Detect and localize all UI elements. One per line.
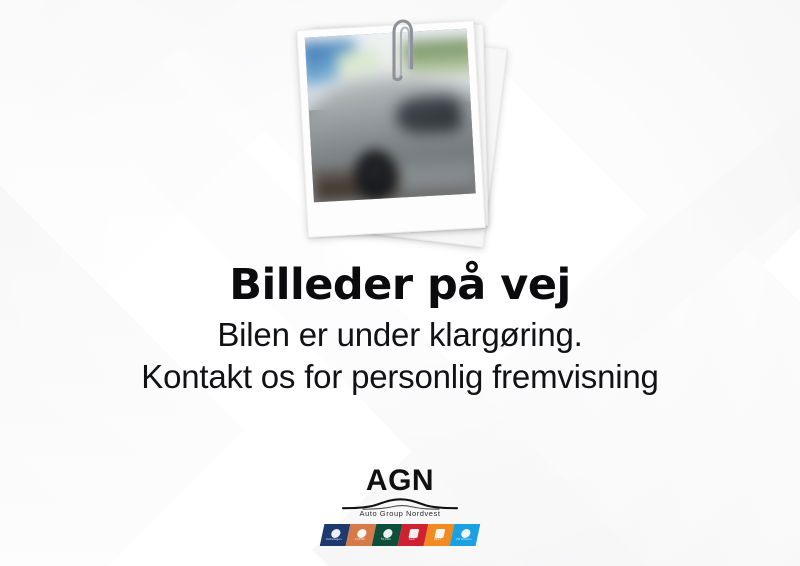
- subtitle-line-two: Kontakt os for personlig fremvisning: [0, 356, 800, 398]
- seat-logo-icon: [434, 528, 445, 537]
- subtitle-line-one: Bilen er under klargøring.: [0, 314, 800, 356]
- image-placeholder-card: Billeder på vej Bilen er under klargørin…: [0, 0, 800, 566]
- cupra-logo-icon: [356, 528, 367, 537]
- page-title: Billeder på vej: [0, 262, 800, 308]
- brand-tile-label: SEAT: [434, 538, 441, 541]
- logo-tagline: Auto Group Nordvest: [318, 510, 482, 518]
- brand-tile-label: Volkswagen: [326, 538, 342, 541]
- volkswagen-logo-icon: [330, 528, 341, 537]
- brand-tile-label: CUPRA: [355, 538, 365, 541]
- brand-tile-label: VW Erhverv: [456, 538, 472, 541]
- audi-logo-icon: [408, 528, 419, 537]
- photo-car-window: [396, 95, 463, 135]
- brand-tile-label: Audi: [409, 538, 415, 541]
- brand-tile-volkswagen-erhverv: VW Erhverv: [450, 524, 481, 546]
- volkswagen-erhverv-logo-icon: [460, 528, 471, 537]
- brand-tile-label: ŠKODA: [381, 538, 391, 541]
- brand-logo-strip: VolkswagenCUPRAŠKODAAudiSEATVW Erhverv: [320, 524, 481, 546]
- agn-logo: AGN Auto Group Nordvest VolkswagenCUPRAŠ…: [318, 466, 482, 546]
- skoda-logo-icon: [382, 528, 393, 537]
- message-block: Billeder på vej Bilen er under klargørin…: [0, 262, 800, 398]
- paperclip-icon: [380, 16, 420, 82]
- logo-wordmark: AGN: [318, 466, 482, 496]
